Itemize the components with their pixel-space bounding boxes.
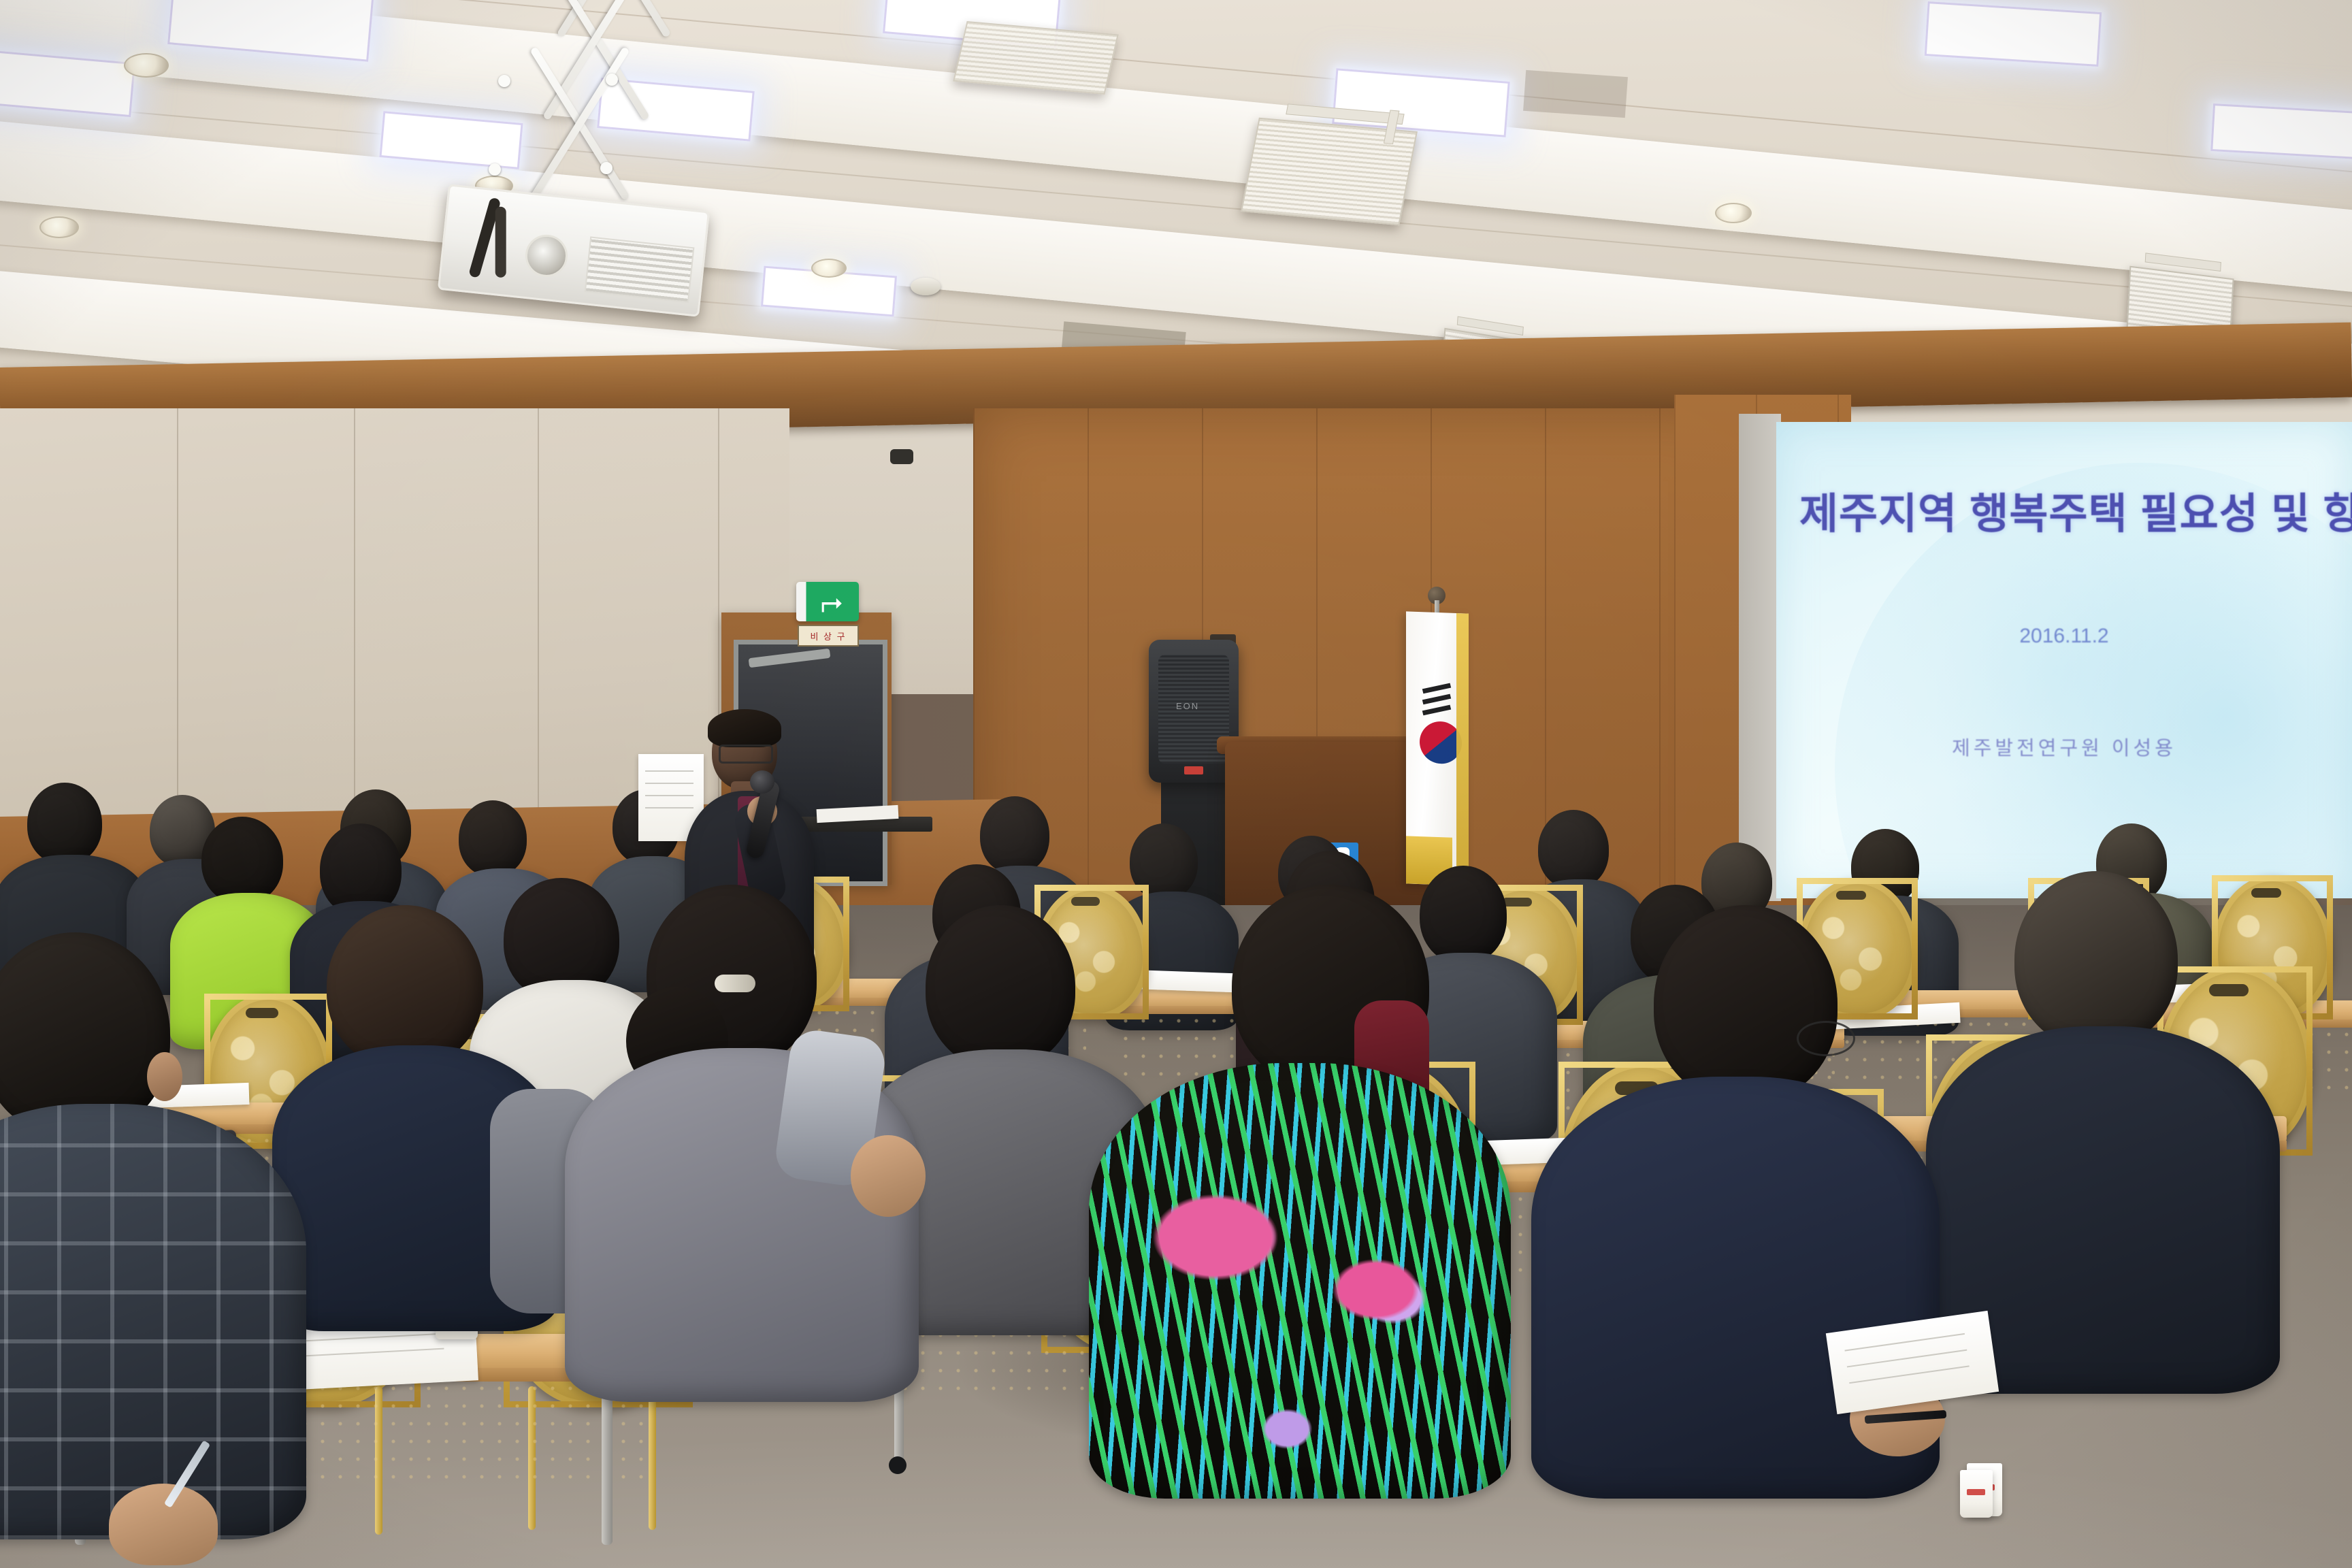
presenter-hair (708, 709, 781, 747)
torso (0, 1104, 306, 1539)
head (2014, 871, 2178, 1048)
slide-author: 제주발전연구원 이성용 (1776, 732, 2352, 761)
projector-vent (585, 236, 695, 303)
hand (109, 1484, 218, 1565)
korean-flag (1406, 611, 1469, 885)
ceiling-downlight (39, 216, 79, 238)
presenter-glasses (719, 745, 773, 764)
glasses (1797, 1021, 1855, 1056)
ceiling-vent (1523, 70, 1628, 118)
head (1654, 905, 1837, 1102)
hair-tie (715, 975, 755, 992)
slide-date: 2016.11.2 (1776, 625, 2352, 648)
ear (147, 1052, 182, 1101)
ceiling-panel-light (2210, 103, 2352, 159)
projector-lens (523, 233, 570, 279)
ceiling-projector-mount (436, 0, 789, 313)
head (926, 905, 1075, 1068)
ceiling-panel-light (1925, 1, 2102, 67)
screen-frame (1739, 414, 1781, 901)
microphone-head (750, 770, 774, 794)
exit-sign-icon: ⮣ (796, 582, 859, 621)
smoke-detector (911, 278, 941, 295)
torso-floral-jacket (1089, 1063, 1511, 1499)
head (327, 905, 483, 1068)
ceiling-downlight (811, 259, 847, 278)
hand (851, 1135, 926, 1217)
ceiling-ac-unit (1241, 118, 1418, 226)
paper-cup-on-floor[interactable] (1960, 1470, 1993, 1518)
pa-speaker-badge (1184, 766, 1203, 774)
ceiling-downlight (1715, 203, 1752, 223)
ceiling-downlight (124, 53, 169, 78)
exit-plate: 비 상 구 (798, 625, 859, 647)
projector (438, 184, 710, 316)
pa-speaker-brand: EON (1176, 701, 1199, 711)
projection-screen: 제주지역 행복주택 필요성 및 향후과제 2016.11.2 제주발전연구원 이… (1776, 422, 2352, 898)
running-person-icon: ⮣ (821, 588, 843, 615)
seminar-room-photo: 제주지역 행복주택 필요성 및 향후과제 2016.11.2 제주발전연구원 이… (0, 0, 2352, 1568)
slide-title: 제주지역 행복주택 필요성 및 향후과제 (1799, 479, 2352, 540)
wall-camera (890, 449, 913, 464)
